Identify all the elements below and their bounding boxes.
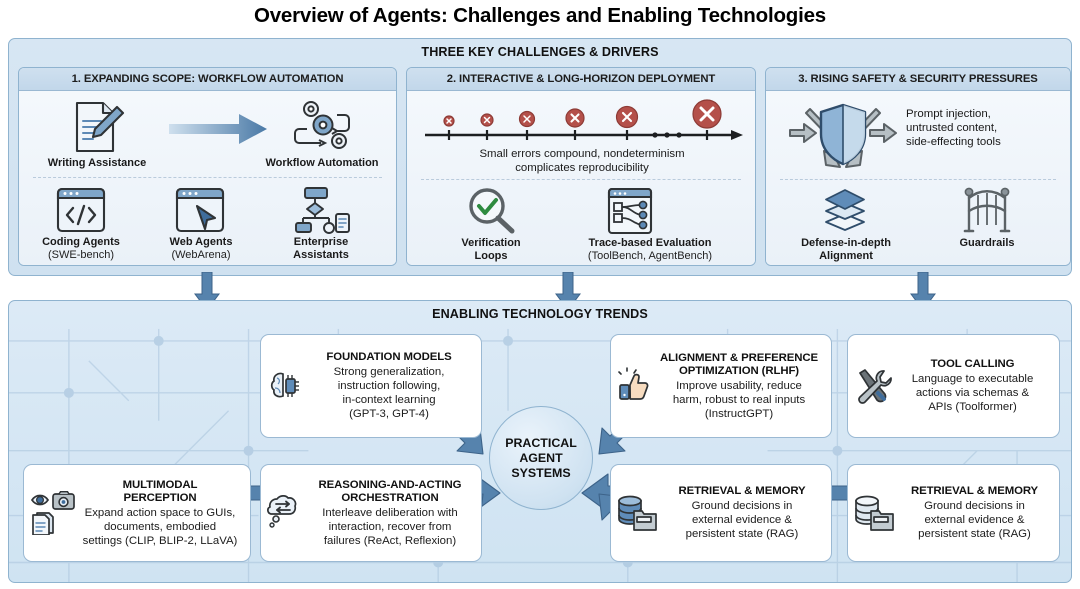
card-multimodal-perception[interactable]: MULTIMODAL PERCEPTION Expand action spac… <box>23 464 251 562</box>
threat-text: Prompt injection, untrusted content, sid… <box>906 107 1066 149</box>
wrench-screwdriver-icon <box>854 367 892 405</box>
card-foundation-models[interactable]: FOUNDATION MODELS Strong generalization,… <box>260 334 482 438</box>
item-trace-based-evaluation: Trace-based Evaluation (ToolBench, Agent… <box>547 237 753 262</box>
card-alignment-preference-optimization[interactable]: ALIGNMENT & PREFERENCE OPTIMIZATION (RLH… <box>610 334 832 438</box>
card-retrieval-memory-1[interactable]: RETRIEVAL & MEMORY Ground decisions in e… <box>610 464 832 562</box>
hub-line-1: PRACTICAL <box>505 436 577 451</box>
magnifier-check-icon <box>465 187 517 235</box>
panel-2-divider <box>421 179 741 180</box>
panel-1-divider <box>33 177 382 178</box>
panel-2-title: 2. INTERACTIVE & LONG-HORIZON DEPLOYMENT <box>407 68 755 91</box>
panel-3-divider <box>780 179 1056 180</box>
panel-safety-security[interactable]: 3. RISING SAFETY & SECURITY PRESSURES <box>765 67 1071 266</box>
hub-line-3: SYSTEMS <box>505 466 577 481</box>
panel-1-body: Writing Assistance <box>19 91 396 266</box>
three-key-challenges-section: THREE KEY CHALLENGES & DRIVERS 1. EXPAND… <box>8 38 1072 276</box>
shield-deflect-arrows-icon <box>782 99 904 173</box>
error-compounding-timeline-icon <box>419 99 745 145</box>
item-verification-loops: Verification Loops <box>441 237 541 262</box>
item-workflow-automation: Workflow Automation <box>244 157 397 170</box>
gears-flow-icon <box>291 99 353 155</box>
item-web-agents: Web Agents (WebArena) <box>143 236 259 261</box>
card-tool-calling[interactable]: TOOL CALLING Language to executable acti… <box>847 334 1060 438</box>
code-window-icon <box>54 186 108 234</box>
document-pencil-icon <box>67 99 127 155</box>
card-foundation-models-text: FOUNDATION MODELS Strong generalization,… <box>303 351 475 421</box>
browser-cursor-icon <box>173 186 227 234</box>
panel-3-body: Prompt injection, untrusted content, sid… <box>766 91 1070 266</box>
item-writing-assistance: Writing Assistance <box>29 157 165 170</box>
practical-agent-systems-hub[interactable]: PRACTICAL AGENT SYSTEMS <box>489 406 593 510</box>
eye-camera-document-icon <box>30 491 76 535</box>
section-heading-enabling: ENABLING TECHNOLOGY TRENDS <box>9 301 1071 321</box>
database-folder-icon <box>854 493 896 533</box>
panel-2-body: Small errors compound, nondeterminism co… <box>407 91 755 266</box>
thumbs-up-icon <box>617 367 653 405</box>
section-heading-challenges: THREE KEY CHALLENGES & DRIVERS <box>9 39 1071 59</box>
item-guardrails: Guardrails <box>952 237 1022 250</box>
right-arrow-gradient-icon <box>169 113 269 145</box>
thought-cloud-arrows-icon <box>267 493 305 533</box>
card-reasoning-and-acting-orchestration[interactable]: REASONING-AND-ACTING ORCHESTRATION Inter… <box>260 464 482 562</box>
panel-3-title: 3. RISING SAFETY & SECURITY PRESSURES <box>766 68 1070 91</box>
panel-interactive-deployment[interactable]: 2. INTERACTIVE & LONG-HORIZON DEPLOYMENT <box>406 67 756 266</box>
panel-expanding-scope[interactable]: 1. EXPANDING SCOPE: WORKFLOW AUTOMATION <box>18 67 397 266</box>
card-multimodal-text: MULTIMODAL PERCEPTION Expand action spac… <box>76 479 244 548</box>
hub-line-2: AGENT <box>505 451 577 466</box>
item-defense-in-depth: Defense-in-depth Alignment <box>794 237 898 262</box>
page-title: Overview of Agents: Challenges and Enabl… <box>0 4 1080 28</box>
org-flowchart-icon <box>291 186 351 234</box>
card-reasoning-text: REASONING-AND-ACTING ORCHESTRATION Inter… <box>305 479 475 548</box>
panel-1-title: 1. EXPANDING SCOPE: WORKFLOW AUTOMATION <box>19 68 396 91</box>
brain-chip-icon <box>267 368 303 404</box>
card-alignment-text: ALIGNMENT & PREFERENCE OPTIMIZATION (RLH… <box>653 352 825 421</box>
card-retrieval-2-text: RETRIEVAL & MEMORY Ground decisions in e… <box>896 485 1053 541</box>
database-folder-icon <box>617 493 659 533</box>
guardrail-fence-icon <box>960 185 1014 235</box>
timeline-caption: Small errors compound, nondeterminism co… <box>415 147 749 175</box>
card-retrieval-memory-2[interactable]: RETRIEVAL & MEMORY Ground decisions in e… <box>847 464 1060 562</box>
layered-shields-icon <box>818 185 872 235</box>
item-enterprise-assistants: Enterprise Assistants <box>267 236 375 261</box>
card-tool-calling-text: TOOL CALLING Language to executable acti… <box>892 358 1053 414</box>
item-coding-agents: Coding Agents (SWE-bench) <box>23 236 139 261</box>
challenge-panels: 1. EXPANDING SCOPE: WORKFLOW AUTOMATION <box>18 67 1071 266</box>
enabling-technology-section: ENABLING TECHNOLOGY TRENDS PRACTICAL <box>8 300 1072 583</box>
trace-graph-window-icon <box>605 187 655 235</box>
card-retrieval-1-text: RETRIEVAL & MEMORY Ground decisions in e… <box>659 485 825 541</box>
